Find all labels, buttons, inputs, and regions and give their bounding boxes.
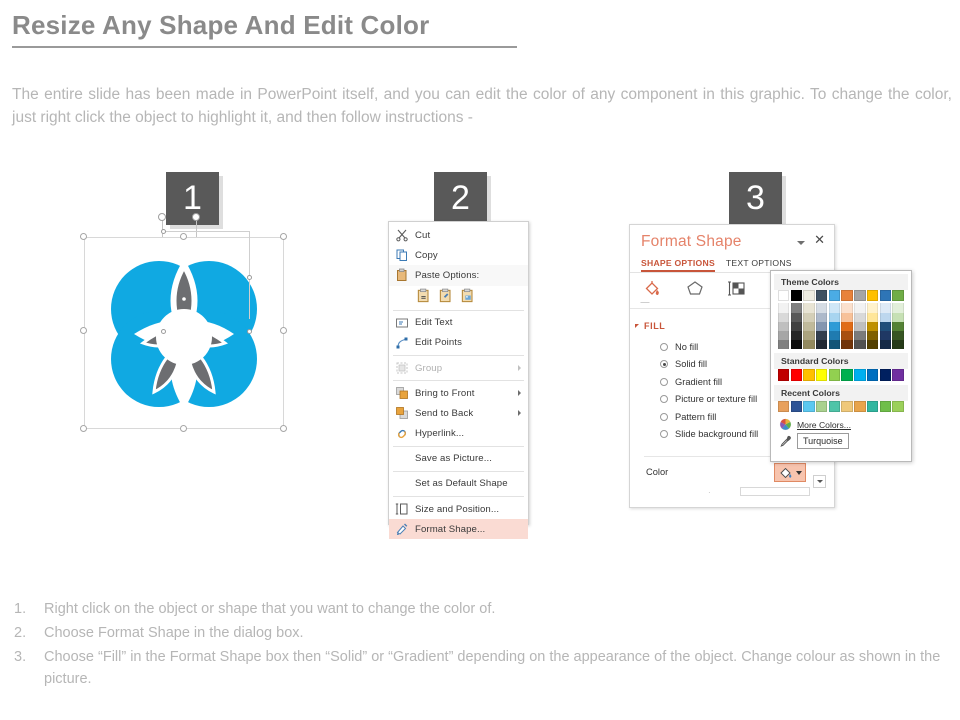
theme-colors-base-row[interactable] — [774, 290, 908, 301]
theme-variant-swatch[interactable] — [791, 340, 802, 349]
theme-variant-swatch[interactable] — [867, 331, 878, 340]
theme-variant-swatch[interactable] — [778, 322, 789, 331]
standard-colors-row[interactable] — [774, 369, 908, 380]
recent-color-swatch-9[interactable] — [892, 401, 903, 412]
standard-color-swatch-1[interactable] — [791, 369, 802, 380]
fill-option-label: No fill — [675, 342, 698, 352]
standard-colors-header: Standard Colors — [774, 353, 908, 369]
menu-divider — [393, 380, 524, 381]
theme-variant-swatch[interactable] — [892, 340, 903, 349]
theme-variant-swatch[interactable] — [892, 331, 903, 340]
theme-variant-swatch[interactable] — [778, 340, 789, 349]
theme-variant-swatch[interactable] — [829, 322, 840, 331]
menu-item-label: Cut — [415, 230, 430, 241]
menu-item-format-shape[interactable]: Format Shape... — [389, 519, 528, 539]
transparency-field[interactable] — [740, 487, 810, 496]
menu-item-label: Size and Position... — [415, 504, 499, 515]
paste-picture-icon[interactable] — [460, 288, 475, 303]
fill-option-no-fill[interactable]: No fill — [660, 338, 758, 356]
theme-color-column-2[interactable] — [803, 303, 814, 349]
instruction-text: Choose Format Shape in the dialog box. — [44, 622, 944, 644]
color-wheel-icon — [779, 418, 792, 431]
menu-divider — [393, 310, 524, 311]
fill-bucket-icon[interactable] — [643, 278, 663, 298]
theme-color-swatch-2[interactable] — [803, 290, 814, 301]
standard-color-swatch-2[interactable] — [803, 369, 814, 380]
rotation-handle-left[interactable] — [158, 213, 166, 221]
fill-option-solid-fill[interactable]: Solid fill — [660, 356, 758, 374]
menu-item-paste-options[interactable]: Paste Options: — [389, 265, 528, 285]
menu-item-cut[interactable]: Cut — [389, 225, 528, 245]
paste-icon — [395, 268, 409, 282]
pentagon-effects-icon[interactable] — [685, 278, 705, 298]
adjust-handle-side[interactable] — [247, 329, 252, 334]
theme-variant-swatch[interactable] — [880, 340, 891, 349]
adjust-guide-horizontal — [163, 231, 250, 232]
menu-divider — [393, 496, 524, 497]
theme-variant-swatch[interactable] — [829, 303, 840, 312]
menu-item-label: Group — [415, 363, 442, 374]
submenu-arrow-icon — [518, 390, 521, 396]
theme-variant-swatch[interactable] — [841, 322, 852, 331]
paste-options-row[interactable] — [389, 286, 528, 308]
radio-button[interactable] — [660, 413, 668, 421]
radio-button[interactable] — [660, 343, 668, 351]
fill-section-header: FILL — [644, 321, 665, 331]
slide-canvas: Resize Any Shape And Edit Color The enti… — [0, 0, 960, 720]
adjust-handle-center[interactable] — [161, 329, 166, 334]
hyperlink-icon — [395, 427, 409, 441]
theme-variant-swatch[interactable] — [892, 313, 903, 322]
theme-color-swatch-8[interactable] — [880, 290, 891, 301]
menu-divider — [393, 355, 524, 356]
menu-item-label: Bring to Front — [415, 388, 475, 399]
send-to-back-icon — [395, 406, 409, 420]
close-icon[interactable]: ✕ — [814, 233, 825, 246]
recent-color-swatch-7[interactable] — [867, 401, 878, 412]
adjust-handle-top[interactable] — [161, 229, 166, 234]
standard-color-swatch-3[interactable] — [816, 369, 827, 380]
theme-variant-swatch[interactable] — [854, 322, 865, 331]
theme-variant-swatch[interactable] — [791, 322, 802, 331]
menu-item-label: Hyperlink... — [415, 428, 464, 439]
chevron-down-icon[interactable] — [797, 241, 805, 245]
selected-shape-group[interactable] — [84, 237, 284, 429]
adjust-handle-right[interactable] — [247, 275, 252, 280]
standard-color-swatch-9[interactable] — [892, 369, 903, 380]
flower-shape-graphic[interactable] — [84, 237, 284, 429]
more-colors-label: More Colors... — [797, 420, 851, 430]
recent-color-swatch-5[interactable] — [841, 401, 852, 412]
recent-colors-header: Recent Colors — [774, 385, 908, 401]
theme-color-column-4[interactable] — [829, 303, 840, 349]
size-layout-icon[interactable] — [727, 278, 747, 298]
recent-color-swatch-4[interactable] — [829, 401, 840, 412]
theme-variant-swatch[interactable] — [803, 313, 814, 322]
theme-variant-swatch[interactable] — [778, 303, 789, 312]
resize-handle-s[interactable] — [180, 425, 187, 432]
resize-handle-nw[interactable] — [80, 233, 87, 240]
no-icon — [395, 452, 409, 466]
theme-variant-swatch[interactable] — [816, 322, 827, 331]
theme-variant-swatch[interactable] — [816, 331, 827, 340]
theme-color-swatch-4[interactable] — [829, 290, 840, 301]
fill-option-label: Solid fill — [675, 359, 707, 369]
theme-variant-swatch[interactable] — [841, 331, 852, 340]
submenu-arrow-icon — [518, 365, 521, 371]
theme-variant-swatch[interactable] — [880, 322, 891, 331]
recent-color-swatch-1[interactable] — [791, 401, 802, 412]
menu-item-label: Copy — [415, 250, 438, 261]
menu-item-bring-to-front[interactable]: Bring to Front — [389, 383, 528, 403]
menu-item-label: Format Shape... — [415, 524, 485, 535]
theme-variant-swatch[interactable] — [892, 322, 903, 331]
format-shape-title: Format Shape — [641, 233, 742, 251]
theme-variant-swatch[interactable] — [867, 322, 878, 331]
format-shape-icon-row[interactable] — [643, 278, 747, 298]
instruction-number: 2. — [14, 622, 44, 644]
context-menu[interactable]: CutCopyPaste Options: Edit TextEdit Poin… — [388, 221, 529, 525]
theme-color-swatch-0[interactable] — [778, 290, 789, 301]
resize-handle-n[interactable] — [180, 233, 187, 240]
fill-option-gradient-fill[interactable]: Gradient fill — [660, 373, 758, 391]
theme-variant-swatch[interactable] — [867, 303, 878, 312]
fill-option-label: Picture or texture fill — [675, 394, 757, 404]
menu-divider — [393, 446, 524, 447]
theme-color-swatch-1[interactable] — [791, 290, 802, 301]
theme-variant-swatch[interactable] — [880, 331, 891, 340]
fill-section-toggle-icon[interactable] — [635, 324, 639, 328]
theme-variant-swatch[interactable] — [816, 313, 827, 322]
menu-item-set-as-default-shape[interactable]: Set as Default Shape — [389, 474, 528, 494]
theme-variant-swatch[interactable] — [854, 340, 865, 349]
menu-item-label: Send to Back — [415, 408, 473, 419]
color-tooltip: Turquoise — [797, 433, 849, 449]
menu-item-label: Paste Options: — [415, 270, 479, 281]
menu-item-edit-points[interactable]: Edit Points — [389, 333, 528, 353]
page-title: Resize Any Shape And Edit Color — [12, 10, 429, 41]
theme-variant-swatch[interactable] — [892, 303, 903, 312]
submenu-arrow-icon — [518, 410, 521, 416]
theme-variant-swatch[interactable] — [778, 331, 789, 340]
menu-item-edit-text[interactable]: Edit Text — [389, 313, 528, 333]
theme-variant-swatch[interactable] — [829, 313, 840, 322]
transparency-spinner[interactable] — [813, 475, 826, 488]
theme-color-column-8[interactable] — [880, 303, 891, 349]
standard-color-swatch-0[interactable] — [778, 369, 789, 380]
theme-variant-swatch[interactable] — [791, 313, 802, 322]
step-badge-3: 3 — [729, 172, 782, 225]
standard-color-swatch-8[interactable] — [880, 369, 891, 380]
menu-item-label: Save as Picture... — [415, 453, 492, 464]
intro-paragraph: The entire slide has been made in PowerP… — [12, 83, 952, 129]
color-label: Color — [646, 467, 668, 477]
instruction-number: 3. — [14, 646, 44, 690]
recent-color-swatch-8[interactable] — [880, 401, 891, 412]
menu-item-hyperlink[interactable]: Hyperlink... — [389, 424, 528, 444]
theme-color-column-1[interactable] — [791, 303, 802, 349]
theme-colors-variants[interactable] — [774, 303, 908, 349]
resize-handle-ne[interactable] — [280, 233, 287, 240]
theme-color-column-0[interactable] — [778, 303, 789, 349]
instruction-list: 1. Right click on the object or shape th… — [14, 598, 944, 692]
theme-color-column-3[interactable] — [816, 303, 827, 349]
theme-variant-swatch[interactable] — [854, 303, 865, 312]
theme-variant-swatch[interactable] — [803, 322, 814, 331]
menu-item-label: Edit Points — [415, 337, 462, 348]
theme-variant-swatch[interactable] — [829, 331, 840, 340]
fill-option-label: Slide background fill — [675, 429, 758, 439]
theme-variant-swatch[interactable] — [791, 331, 802, 340]
standard-color-swatch-6[interactable] — [854, 369, 865, 380]
theme-color-column-6[interactable] — [854, 303, 865, 349]
no-icon — [395, 477, 409, 491]
menu-item-label: Set as Default Shape — [415, 478, 508, 489]
recent-colors-row[interactable] — [774, 401, 908, 412]
fill-option-picture-or-texture-fill[interactable]: Picture or texture fill — [660, 391, 758, 409]
menu-item-group: Group — [389, 358, 528, 378]
menu-divider — [393, 471, 524, 472]
standard-color-swatch-4[interactable] — [829, 369, 840, 380]
theme-color-swatch-5[interactable] — [841, 290, 852, 301]
flower-center — [156, 309, 212, 365]
theme-variant-swatch[interactable] — [867, 340, 878, 349]
eyedropper-icon — [779, 435, 792, 448]
menu-item-copy[interactable]: Copy — [389, 245, 528, 265]
menu-item-send-to-back[interactable]: Send to Back — [389, 403, 528, 423]
radio-button[interactable] — [660, 395, 668, 403]
instruction-item-1: 1. Right click on the object or shape th… — [14, 598, 944, 620]
theme-variant-swatch[interactable] — [841, 303, 852, 312]
theme-variant-swatch[interactable] — [841, 340, 852, 349]
theme-variant-swatch[interactable] — [880, 303, 891, 312]
theme-variant-swatch[interactable] — [854, 331, 865, 340]
theme-variant-swatch[interactable] — [816, 303, 827, 312]
instruction-number: 1. — [14, 598, 44, 620]
fill-options-list[interactable]: No fill Solid fill Gradient fill Picture… — [660, 338, 758, 443]
color-dropdown-caret-icon[interactable] — [796, 471, 802, 475]
fill-option-slide-background-fill[interactable]: Slide background fill — [660, 426, 758, 444]
theme-variant-swatch[interactable] — [867, 313, 878, 322]
theme-variant-swatch[interactable] — [880, 313, 891, 322]
paste-keep-source-icon[interactable] — [438, 288, 453, 303]
fill-option-label: Pattern fill — [675, 412, 716, 422]
theme-color-column-5[interactable] — [841, 303, 852, 349]
recent-color-swatch-0[interactable] — [778, 401, 789, 412]
theme-variant-swatch[interactable] — [854, 313, 865, 322]
instruction-item-2: 2. Choose Format Shape in the dialog box… — [14, 622, 944, 644]
scissors-icon — [395, 228, 409, 242]
title-underline — [12, 46, 517, 48]
menu-item-label: Edit Text — [415, 317, 453, 328]
theme-color-swatch-7[interactable] — [867, 290, 878, 301]
resize-handle-e[interactable] — [280, 327, 287, 334]
radio-button[interactable] — [660, 360, 668, 368]
theme-variant-swatch[interactable] — [803, 331, 814, 340]
group-icon — [395, 361, 409, 375]
theme-variant-swatch[interactable] — [829, 340, 840, 349]
size-position-icon — [395, 502, 409, 516]
rotation-stem-right — [196, 220, 197, 237]
theme-variant-swatch[interactable] — [778, 313, 789, 322]
chevron-down-icon[interactable] — [817, 480, 823, 483]
theme-variant-swatch[interactable] — [803, 340, 814, 349]
menu-item-size-and-position[interactable]: Size and Position... — [389, 499, 528, 519]
rotation-handle-right[interactable] — [192, 213, 200, 221]
theme-color-column-9[interactable] — [892, 303, 903, 349]
theme-color-swatch-9[interactable] — [892, 290, 903, 301]
resize-handle-se[interactable] — [280, 425, 287, 432]
fill-option-pattern-fill[interactable]: Pattern fill — [660, 408, 758, 426]
step-badge-2: 2 — [434, 172, 487, 225]
instruction-text: Choose “Fill” in the Format Shape box th… — [44, 646, 944, 690]
standard-color-swatch-7[interactable] — [867, 369, 878, 380]
fill-color-icon — [779, 466, 794, 480]
transparency-hint: · — [708, 488, 711, 497]
theme-variant-swatch[interactable] — [803, 303, 814, 312]
fill-color-button[interactable] — [774, 463, 806, 482]
more-colors-item[interactable]: More Colors... — [774, 416, 908, 431]
tab-shape-options[interactable]: SHAPE OPTIONS — [641, 258, 715, 272]
bring-to-front-icon — [395, 386, 409, 400]
instruction-item-3: 3. Choose “Fill” in the Format Shape box… — [14, 646, 944, 690]
recent-color-swatch-6[interactable] — [854, 401, 865, 412]
edit-text-icon — [395, 316, 409, 330]
radio-button[interactable] — [660, 378, 668, 386]
theme-variant-swatch[interactable] — [791, 303, 802, 312]
instruction-text: Right click on the object or shape that … — [44, 598, 944, 620]
theme-variant-swatch[interactable] — [816, 340, 827, 349]
copy-icon — [395, 248, 409, 262]
recent-color-swatch-3[interactable] — [816, 401, 827, 412]
fill-option-label: Gradient fill — [675, 377, 722, 387]
recent-color-swatch-2[interactable] — [803, 401, 814, 412]
resize-handle-sw[interactable] — [80, 425, 87, 432]
theme-variant-swatch[interactable] — [841, 313, 852, 322]
theme-color-column-7[interactable] — [867, 303, 878, 349]
radio-button[interactable] — [660, 430, 668, 438]
theme-color-swatch-3[interactable] — [816, 290, 827, 301]
paste-keep-formatting-icon[interactable] — [416, 288, 431, 303]
format-shape-icon — [395, 522, 409, 536]
theme-color-swatch-6[interactable] — [854, 290, 865, 301]
standard-color-swatch-5[interactable] — [841, 369, 852, 380]
resize-handle-w[interactable] — [80, 327, 87, 334]
theme-colors-header: Theme Colors — [774, 274, 908, 290]
edit-points-icon — [395, 336, 409, 350]
menu-item-save-as-picture[interactable]: Save as Picture... — [389, 449, 528, 469]
